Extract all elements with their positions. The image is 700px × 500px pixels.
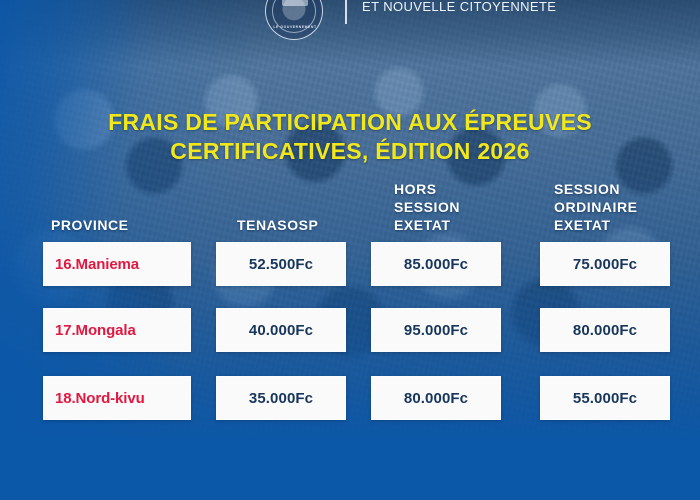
tenasosp-value: 52.500Fc — [249, 256, 313, 273]
column-header-hors-session-line2: SESSION — [394, 198, 460, 216]
poster: LE GOUVERNEMENT ET NOUVELLE CITOYENNETE … — [0, 0, 700, 500]
table-row: 16.Maniema 52.500Fc 85.000Fc 75.000Fc — [0, 242, 700, 286]
province-label: 16.Maniema — [55, 256, 139, 273]
session-ordinaire-exetat-value: 55.000Fc — [573, 390, 637, 407]
tenasosp-value: 40.000Fc — [249, 322, 313, 339]
column-header-province-line1: PROVINCE — [51, 216, 129, 234]
cell-hors-session-exetat: 80.000Fc — [371, 376, 501, 420]
table-row: 18.Nord-kivu 35.000Fc 80.000Fc 55.000Fc — [0, 376, 700, 420]
solid-blue-footer — [0, 438, 700, 500]
cell-province: 18.Nord-kivu — [43, 376, 191, 420]
hors-session-exetat-value: 85.000Fc — [404, 256, 468, 273]
fees-table: PROVINCE TENASOSP HORS SESSION EXETAT SE… — [0, 176, 700, 436]
table-header-row: PROVINCE TENASOSP HORS SESSION EXETAT SE… — [0, 176, 700, 238]
page-title: FRAIS DE PARTICIPATION AUX ÉPREUVES CERT… — [0, 108, 700, 166]
title-line-2: CERTIFICATIVES, ÉDITION 2026 — [0, 137, 700, 166]
cell-tenasosp: 52.500Fc — [216, 242, 346, 286]
seal-emblem — [282, 0, 308, 6]
column-header-hors-session-exetat: HORS SESSION EXETAT — [394, 180, 460, 234]
province-label: 17.Mongala — [55, 322, 136, 339]
masthead-title: ET NOUVELLE CITOYENNETE — [362, 0, 556, 14]
cell-tenasosp: 35.000Fc — [216, 376, 346, 420]
session-ordinaire-exetat-value: 80.000Fc — [573, 322, 637, 339]
column-header-tenasosp-line1: TENASOSP — [237, 216, 318, 234]
seal-label: LE GOUVERNEMENT — [273, 25, 317, 29]
column-header-hors-session-line1: HORS — [394, 180, 460, 198]
column-header-session-ordinaire-line2: ORDINAIRE — [554, 198, 638, 216]
hors-session-exetat-value: 95.000Fc — [404, 322, 468, 339]
column-header-province: PROVINCE — [51, 216, 129, 234]
masthead: LE GOUVERNEMENT ET NOUVELLE CITOYENNETE — [0, 0, 700, 24]
cell-tenasosp: 40.000Fc — [216, 308, 346, 352]
hors-session-exetat-value: 80.000Fc — [404, 390, 468, 407]
cell-province: 17.Mongala — [43, 308, 191, 352]
cell-hors-session-exetat: 85.000Fc — [371, 242, 501, 286]
masthead-divider — [345, 0, 347, 24]
column-header-hors-session-line3: EXETAT — [394, 216, 460, 234]
cell-session-ordinaire-exetat: 75.000Fc — [540, 242, 670, 286]
column-header-session-ordinaire-line3: EXETAT — [554, 216, 638, 234]
session-ordinaire-exetat-value: 75.000Fc — [573, 256, 637, 273]
tenasosp-value: 35.000Fc — [249, 390, 313, 407]
cell-session-ordinaire-exetat: 80.000Fc — [540, 308, 670, 352]
seal-inner-ring: LE GOUVERNEMENT — [272, 0, 316, 33]
cell-session-ordinaire-exetat: 55.000Fc — [540, 376, 670, 420]
column-header-session-ordinaire-line1: SESSION — [554, 180, 638, 198]
column-header-tenasosp: TENASOSP — [237, 216, 318, 234]
column-header-session-ordinaire-exetat: SESSION ORDINAIRE EXETAT — [554, 180, 638, 234]
province-label: 18.Nord-kivu — [55, 390, 145, 407]
cell-hors-session-exetat: 95.000Fc — [371, 308, 501, 352]
cell-province: 16.Maniema — [43, 242, 191, 286]
title-line-1: FRAIS DE PARTICIPATION AUX ÉPREUVES — [0, 108, 700, 137]
table-row: 17.Mongala 40.000Fc 95.000Fc 80.000Fc — [0, 308, 700, 352]
